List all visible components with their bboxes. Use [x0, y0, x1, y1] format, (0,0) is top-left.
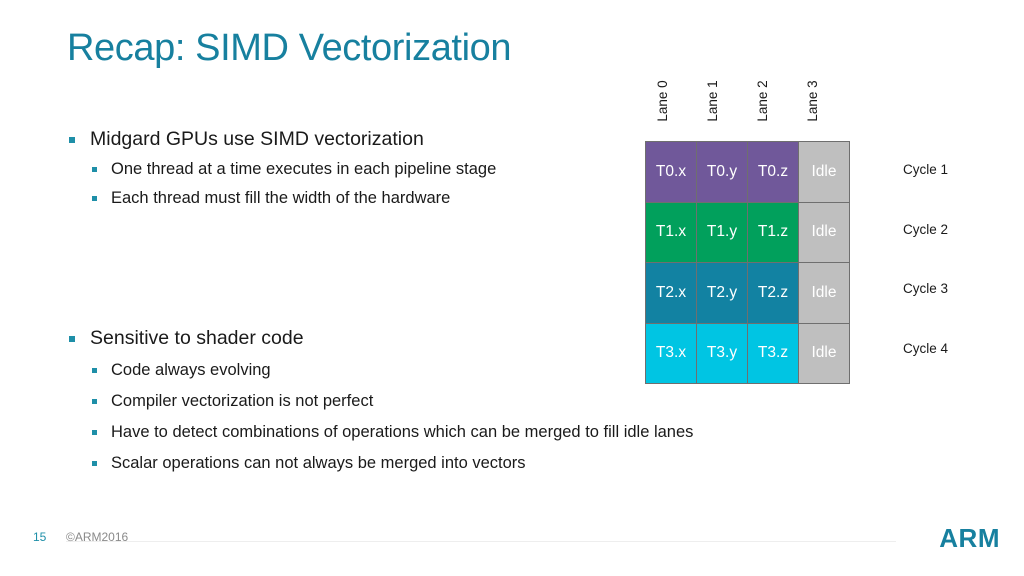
square-bullet-icon — [69, 137, 75, 143]
bullet-item-2-2-label: Compiler vectorization is not perfect — [111, 392, 373, 410]
grid-cell: T2.x — [646, 263, 697, 324]
bullet-item-2-3-label: Have to detect combinations of operation… — [111, 423, 693, 441]
lane-header-1: Lane 1 — [695, 63, 745, 135]
grid-cell: T0.z — [748, 142, 799, 203]
bullet-item-2-3: Have to detect combinations of operation… — [66, 420, 826, 444]
simd-grid: T0.xT0.yT0.zIdleT1.xT1.yT1.zIdleT2.xT2.y… — [645, 141, 850, 384]
grid-cell: T3.x — [646, 323, 697, 384]
slide-canvas: Recap: SIMD Vectorization Midgard GPUs u… — [0, 0, 1024, 576]
lane-header-0: Lane 0 — [645, 63, 695, 135]
cycle-label-2: Cycle 3 — [903, 281, 948, 296]
lane-header-3: Lane 3 — [795, 63, 845, 135]
cycle-label-1: Cycle 2 — [903, 222, 948, 237]
square-bullet-icon — [92, 461, 97, 466]
footer-divider — [66, 541, 896, 542]
grid-row: T3.xT3.yT3.zIdle — [646, 323, 850, 384]
grid-cell: T3.y — [697, 323, 748, 384]
bullet-heading-1-label: Midgard GPUs use SIMD vectorization — [90, 128, 424, 150]
page-number: 15 — [33, 530, 46, 544]
bullet-item-2-4-label: Scalar operations can not always be merg… — [111, 454, 526, 472]
lane-header-label: Lane 1 — [705, 80, 720, 121]
grid-row: T2.xT2.yT2.zIdle — [646, 263, 850, 324]
grid-cell: T0.x — [646, 142, 697, 203]
page-title: Recap: SIMD Vectorization — [67, 24, 511, 72]
square-bullet-icon — [92, 399, 97, 404]
square-bullet-icon — [92, 167, 97, 172]
grid-cell: T1.x — [646, 202, 697, 263]
square-bullet-icon — [92, 196, 97, 201]
lane-header-label: Lane 3 — [805, 80, 820, 121]
bullet-item-2-2: Compiler vectorization is not perfect — [66, 389, 826, 413]
grid-cell: T1.z — [748, 202, 799, 263]
bullet-item-1-2-label: Each thread must fill the width of the h… — [111, 189, 450, 207]
square-bullet-icon — [92, 368, 97, 373]
grid-cell-idle: Idle — [799, 142, 850, 203]
arm-logo: ARM — [939, 523, 1000, 554]
cycle-label-3: Cycle 4 — [903, 341, 948, 356]
grid-cell-idle: Idle — [799, 202, 850, 263]
grid-row: T0.xT0.yT0.zIdle — [646, 142, 850, 203]
grid-cell: T2.y — [697, 263, 748, 324]
square-bullet-icon — [92, 430, 97, 435]
lane-header-label: Lane 2 — [755, 80, 770, 121]
grid-cell-idle: Idle — [799, 263, 850, 324]
grid-cell: T1.y — [697, 202, 748, 263]
cycle-label-0: Cycle 1 — [903, 162, 948, 177]
copyright-notice: ©ARM2016 — [66, 530, 128, 544]
square-bullet-icon — [69, 336, 75, 342]
grid-row: T1.xT1.yT1.zIdle — [646, 202, 850, 263]
grid-cell-idle: Idle — [799, 323, 850, 384]
grid-cell: T0.y — [697, 142, 748, 203]
simd-lane-diagram: T0.xT0.yT0.zIdleT1.xT1.yT1.zIdleT2.xT2.y… — [645, 141, 850, 384]
lane-header-label: Lane 0 — [655, 80, 670, 121]
bullet-item-1-1-label: One thread at a time executes in each pi… — [111, 160, 496, 178]
bullet-heading-2-label: Sensitive to shader code — [90, 327, 304, 349]
bullet-item-2-1-label: Code always evolving — [111, 361, 271, 379]
grid-cell: T3.z — [748, 323, 799, 384]
bullet-item-2-4: Scalar operations can not always be merg… — [66, 451, 826, 475]
grid-cell: T2.z — [748, 263, 799, 324]
lane-header-2: Lane 2 — [745, 63, 795, 135]
